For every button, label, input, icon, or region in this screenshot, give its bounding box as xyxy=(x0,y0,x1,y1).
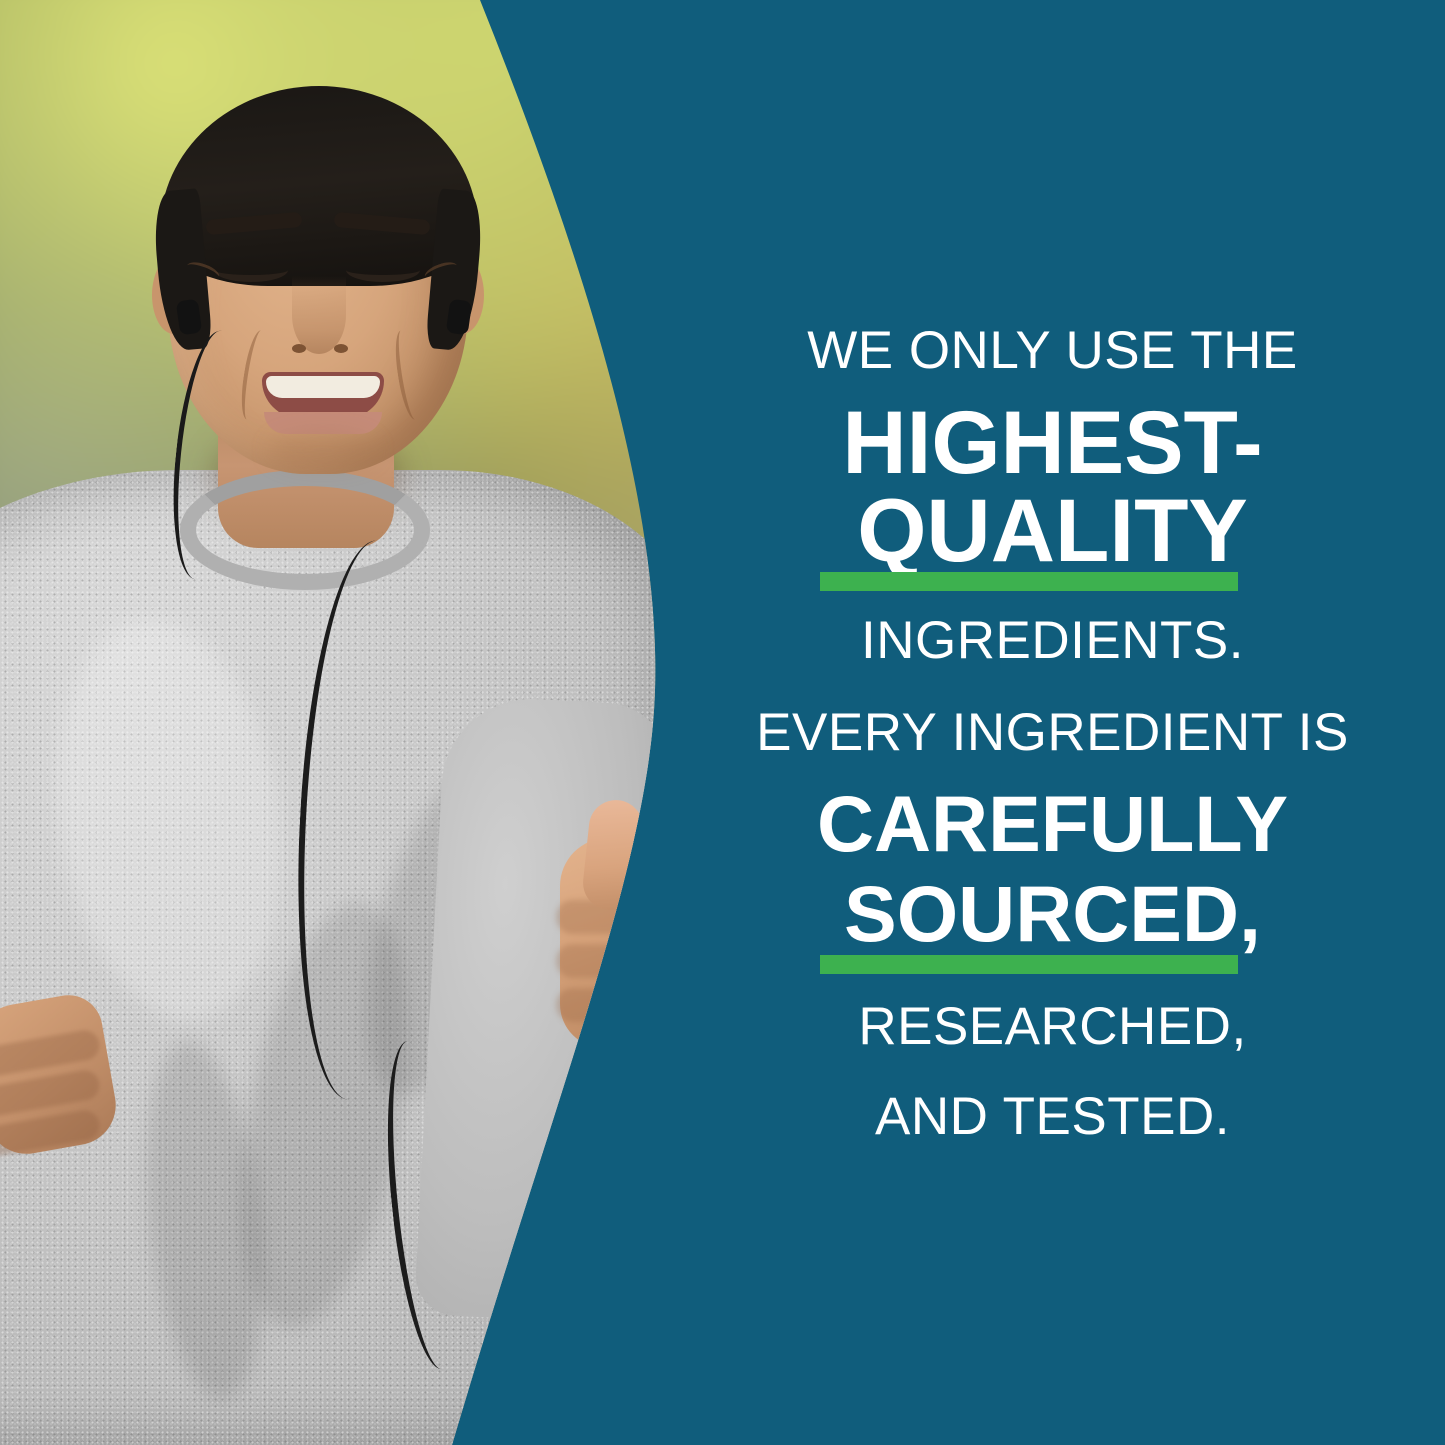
person-figure xyxy=(0,0,700,1445)
knuckle-line xyxy=(556,944,654,978)
eye-left xyxy=(214,258,288,282)
headline-line-5: EVERY INGREDIENT IS xyxy=(660,706,1445,759)
nostril-left xyxy=(292,344,306,353)
headline-line-1: WE ONLY USE THE xyxy=(660,324,1445,377)
knuckle-line xyxy=(556,988,654,1022)
teeth xyxy=(266,376,380,398)
earbud-left-icon xyxy=(176,299,203,336)
headline-line-8: RESEARCHED, xyxy=(660,1000,1445,1053)
headline-line-6: CAREFULLY xyxy=(660,784,1445,863)
eye-right xyxy=(346,258,420,282)
promo-canvas: WE ONLY USE THE HIGHEST- QUALITY INGREDI… xyxy=(0,0,1445,1445)
headline-line-2: HIGHEST- xyxy=(660,398,1445,487)
message-panel: WE ONLY USE THE HIGHEST- QUALITY INGREDI… xyxy=(660,0,1445,1445)
nostril-right xyxy=(334,344,348,353)
headline-line-7: SOURCED, xyxy=(660,874,1445,953)
headline-line-9: AND TESTED. xyxy=(660,1090,1445,1143)
hair xyxy=(160,86,478,286)
green-underline-quality xyxy=(820,572,1238,591)
hero-photo xyxy=(0,0,700,1445)
chin-shadow xyxy=(270,432,376,468)
green-underline-sourced xyxy=(820,955,1238,974)
nose xyxy=(292,276,346,354)
headline-line-3: QUALITY xyxy=(660,486,1445,575)
lower-lip xyxy=(264,412,382,434)
headline-line-4: INGREDIENTS. xyxy=(660,614,1445,667)
